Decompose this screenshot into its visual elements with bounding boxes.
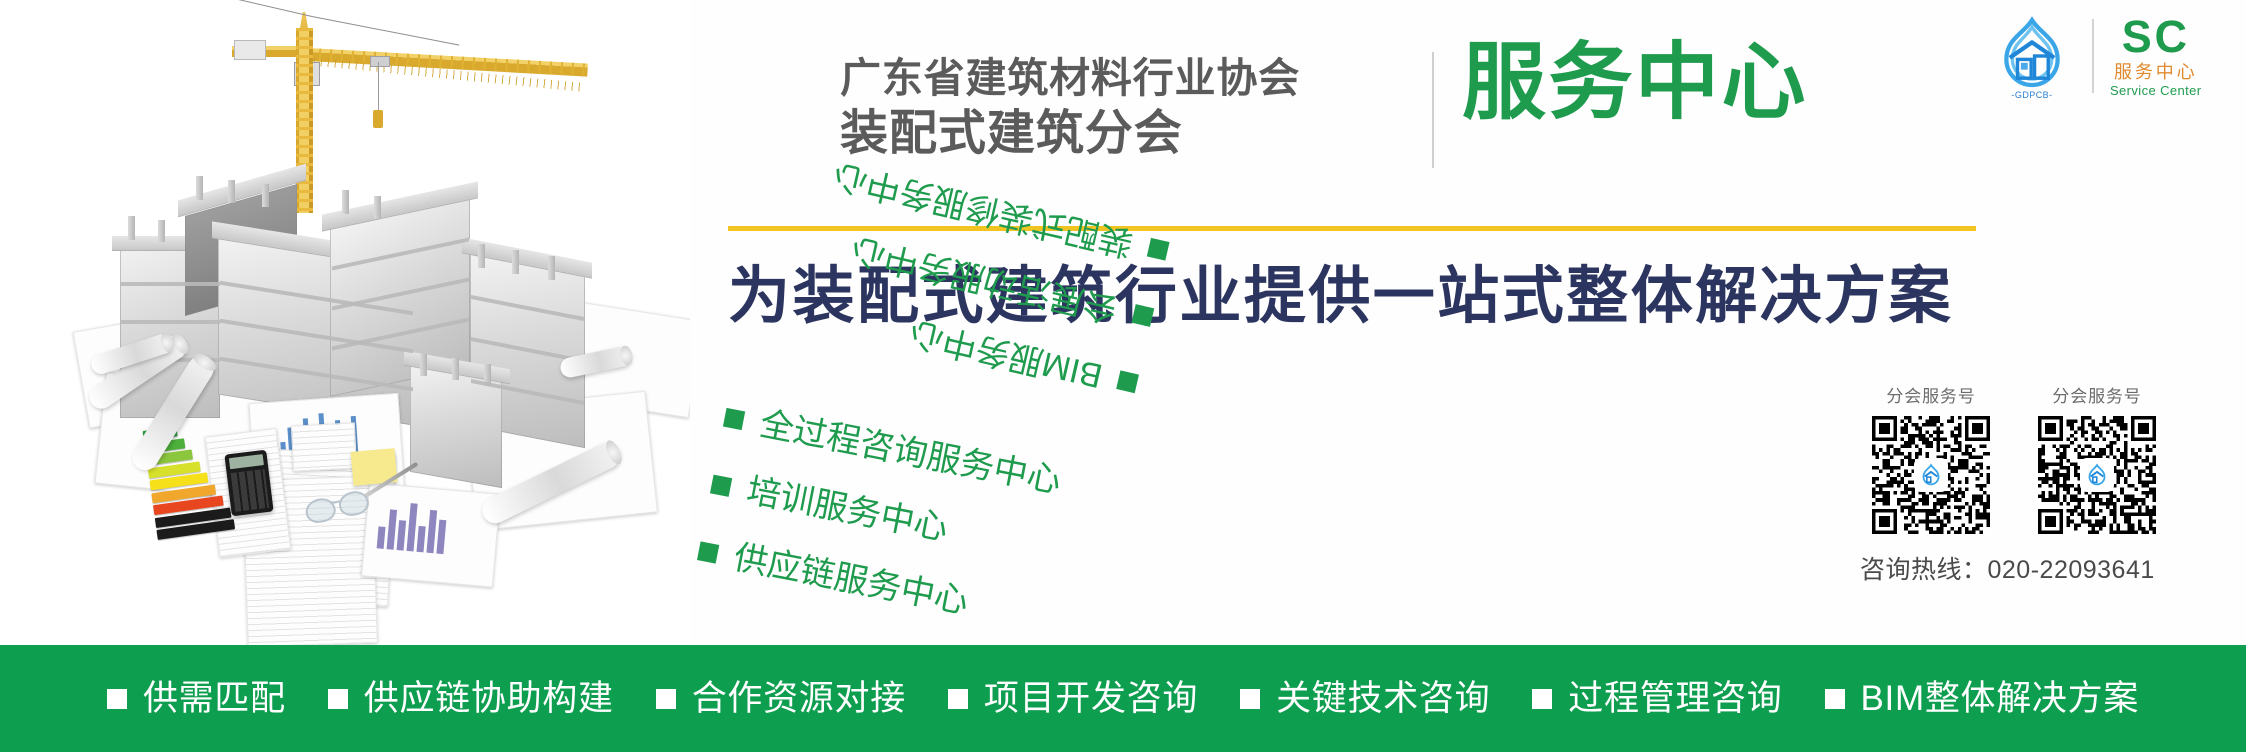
building-column bbox=[478, 244, 485, 268]
qr-center-logo-icon bbox=[1916, 460, 1946, 490]
building-column bbox=[548, 256, 555, 280]
brand-logo: -GDPCB- SC 服务中心 Service Center bbox=[1988, 14, 2201, 97]
crane-trolley bbox=[370, 56, 390, 67]
calculator-keys bbox=[231, 469, 269, 512]
bottom-bar-label: 供需匹配 bbox=[143, 681, 286, 716]
bottom-bar-item[interactable]: BIM整体解决方案 bbox=[1825, 681, 2140, 716]
association-title: 广东省建筑材料行业协会 装配式建筑分会 bbox=[840, 58, 1300, 158]
building-column bbox=[128, 216, 135, 240]
bottom-bar-item[interactable]: 供应链协助构建 bbox=[328, 681, 614, 716]
building-column bbox=[452, 358, 459, 380]
building-column bbox=[342, 190, 349, 214]
bottom-bar-label: 关键技术咨询 bbox=[1276, 681, 1490, 716]
banner-root: -GDPCB- SC 服务中心 Service Center 广东省建筑材料行业… bbox=[0, 0, 2246, 752]
service-center-list: 全过程咨询服务中心 培训服务中心 供应链服务中心 BIM服务中心 会展活动服务中… bbox=[728, 400, 1433, 401]
gdpcb-caption: -GDPCB- bbox=[1988, 90, 2076, 100]
bullet-square-icon bbox=[1825, 689, 1845, 709]
bottom-bar-item[interactable]: 合作资源对接 bbox=[656, 681, 906, 716]
service-column-right: BIM服务中心 会展活动服务中心 装配式装修服务中心 bbox=[841, 333, 1134, 401]
qr-code-group: 分会服务号 分会服务号 bbox=[1870, 382, 2158, 534]
building-column bbox=[262, 184, 269, 207]
building-column bbox=[228, 180, 235, 203]
building-floor-line bbox=[120, 320, 220, 324]
gdpcb-logo-icon: -GDPCB- bbox=[1988, 15, 2076, 97]
bottom-bar-item[interactable]: 过程管理咨询 bbox=[1532, 681, 1782, 716]
qr-center-logo-icon bbox=[2082, 460, 2112, 490]
calculator-screen bbox=[229, 454, 264, 469]
qr-caption: 分会服务号 bbox=[2036, 382, 2158, 407]
crane-hook-line bbox=[378, 62, 379, 112]
bullet-square-icon bbox=[1240, 689, 1260, 709]
crane-cable bbox=[236, 0, 312, 17]
brand-text: SC 服务中心 Service Center bbox=[2110, 14, 2201, 97]
bottom-bar-item[interactable]: 关键技术咨询 bbox=[1240, 681, 1490, 716]
bottom-feature-bar: 供需匹配 供应链协助构建 合作资源对接 项目开发咨询 关键技术咨询 过程管理咨询… bbox=[0, 645, 2246, 752]
building-column bbox=[196, 176, 203, 200]
building-column bbox=[374, 196, 381, 219]
qr-code-left[interactable]: 分会服务号 bbox=[1870, 382, 1992, 534]
qr-code-right[interactable]: 分会服务号 bbox=[2036, 382, 2158, 534]
qr-caption: 分会服务号 bbox=[1870, 382, 1992, 407]
bullet-square-icon bbox=[1147, 238, 1170, 261]
hero-construction-illustration bbox=[0, 0, 690, 645]
bottom-bar-item[interactable]: 项目开发咨询 bbox=[948, 681, 1198, 716]
bullet-square-icon bbox=[723, 407, 745, 429]
service-center-title: 服务中心 bbox=[1462, 40, 1808, 124]
crane-cable bbox=[312, 16, 459, 46]
qr-code-image[interactable] bbox=[1872, 416, 1990, 534]
hotline-text: 咨询热线：020-22093641 bbox=[1860, 550, 2155, 586]
spec-document bbox=[291, 422, 357, 471]
hero-stage bbox=[0, 0, 690, 645]
title-divider bbox=[1432, 52, 1434, 168]
bullet-square-icon bbox=[107, 689, 127, 709]
bottom-bar-label: 合作资源对接 bbox=[692, 681, 906, 716]
building-column bbox=[158, 220, 165, 242]
crane-mast bbox=[296, 28, 313, 213]
brand-en-label: Service Center bbox=[2110, 84, 2201, 97]
building-floor-line bbox=[120, 282, 220, 286]
yellow-divider-rule bbox=[728, 226, 1976, 231]
bullet-square-icon bbox=[328, 689, 348, 709]
bottom-bar-item[interactable]: 供需匹配 bbox=[107, 681, 286, 716]
bullet-square-icon bbox=[948, 689, 968, 709]
building-column bbox=[420, 354, 427, 376]
crane-hook-icon bbox=[373, 110, 383, 128]
bullet-square-icon bbox=[710, 474, 732, 496]
crane-counterweight bbox=[234, 40, 266, 60]
qr-code-image[interactable] bbox=[2038, 416, 2156, 534]
brand-sc-label: SC bbox=[2122, 14, 2190, 59]
bullet-square-icon bbox=[697, 541, 719, 563]
bullet-square-icon bbox=[1532, 689, 1552, 709]
bottom-bar-label: 过程管理咨询 bbox=[1568, 681, 1782, 716]
bullet-square-icon bbox=[656, 689, 676, 709]
association-line-1: 广东省建筑材料行业协会 bbox=[840, 58, 1300, 99]
calculator-icon bbox=[224, 450, 273, 517]
service-column-left: 全过程咨询服务中心 培训服务中心 供应链服务中心 bbox=[728, 400, 1023, 458]
chart-document-purple bbox=[361, 482, 501, 587]
building-column bbox=[512, 250, 519, 274]
brand-divider bbox=[2092, 19, 2094, 93]
bottom-bar-label: 项目开发咨询 bbox=[984, 681, 1198, 716]
bar-chart-purple bbox=[377, 500, 448, 554]
bottom-bar-label: BIM整体解决方案 bbox=[1861, 681, 2140, 716]
service-item-label: 供应链服务中心 bbox=[731, 540, 971, 619]
service-item-label: 培训服务中心 bbox=[744, 474, 951, 546]
bottom-bar-label: 供应链协助构建 bbox=[364, 681, 614, 716]
association-line-2: 装配式建筑分会 bbox=[840, 110, 1300, 158]
brand-cn-label: 服务中心 bbox=[2114, 63, 2198, 81]
bullet-square-icon bbox=[1116, 371, 1139, 394]
